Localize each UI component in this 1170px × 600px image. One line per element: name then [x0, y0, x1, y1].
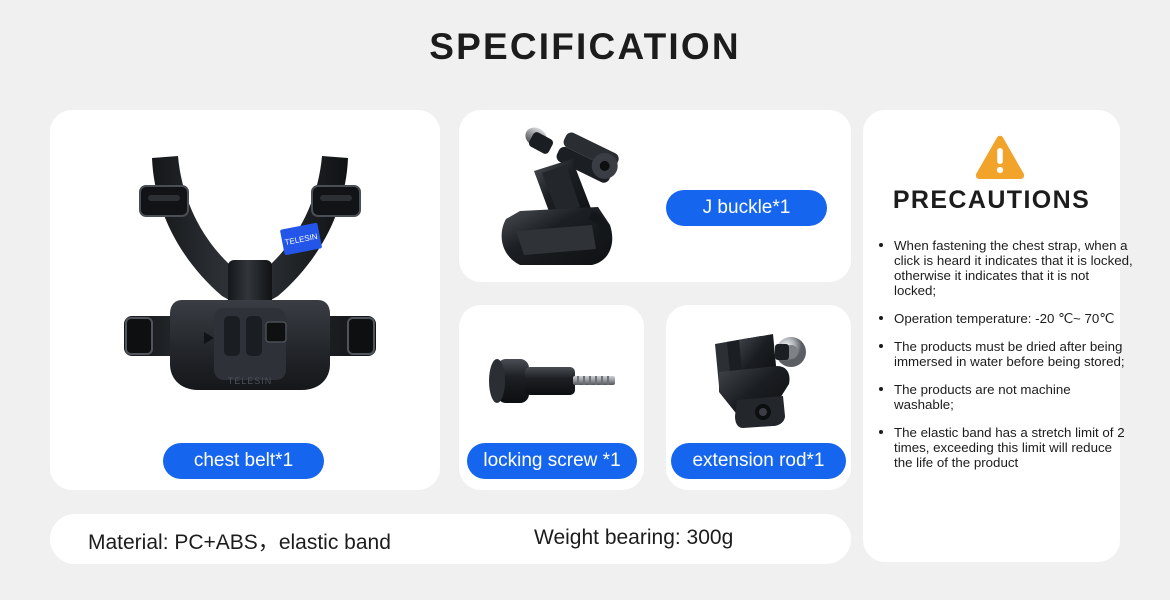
precaution-item: The elastic band has a stretch limit of …	[876, 425, 1134, 470]
bullet-icon	[879, 243, 883, 247]
extension-rod-photo	[697, 322, 822, 432]
precaution-item: The products must be dried after being i…	[876, 339, 1134, 369]
precaution-text: When fastening the chest strap, when a c…	[894, 238, 1133, 298]
precautions-title: PRECAUTIONS	[863, 186, 1120, 215]
locking-thumbscrew-photo	[473, 333, 633, 428]
bullet-icon	[879, 387, 883, 391]
weight-bearing-text: Weight bearing: 300g	[534, 526, 733, 550]
product-label-extension-rod[interactable]: extension rod*1	[671, 443, 846, 479]
precaution-item: The products are not machine washable;	[876, 382, 1134, 412]
product-label-chest-belt[interactable]: chest belt*1	[163, 443, 324, 479]
precaution-item: Operation temperature: -20 ℃~ 70℃	[876, 311, 1134, 326]
bullet-icon	[879, 316, 883, 320]
precaution-text: Operation temperature: -20 ℃~ 70℃	[894, 311, 1114, 326]
product-label-locking-screw[interactable]: locking screw *1	[467, 443, 637, 479]
j-buckle-mount-photo	[480, 115, 655, 285]
precautions-list: When fastening the chest strap, when a c…	[876, 238, 1134, 483]
bullet-icon	[879, 430, 883, 434]
precaution-item: When fastening the chest strap, when a c…	[876, 238, 1134, 298]
precaution-text: The products must be dried after being i…	[894, 339, 1125, 369]
page-title: SPECIFICATION	[0, 26, 1170, 68]
material-text: Material: PC+ABS，elastic band	[88, 526, 391, 556]
bullet-icon	[879, 344, 883, 348]
warning-triangle-icon	[974, 134, 1026, 182]
chest-harness-photo: TELESIN TELESIN	[110, 140, 390, 420]
product-label-j-buckle[interactable]: J buckle*1	[666, 190, 827, 226]
precaution-text: The products are not machine washable;	[894, 382, 1071, 412]
precaution-text: The elastic band has a stretch limit of …	[894, 425, 1125, 470]
mount-plate-label: TELESIN	[228, 376, 273, 386]
